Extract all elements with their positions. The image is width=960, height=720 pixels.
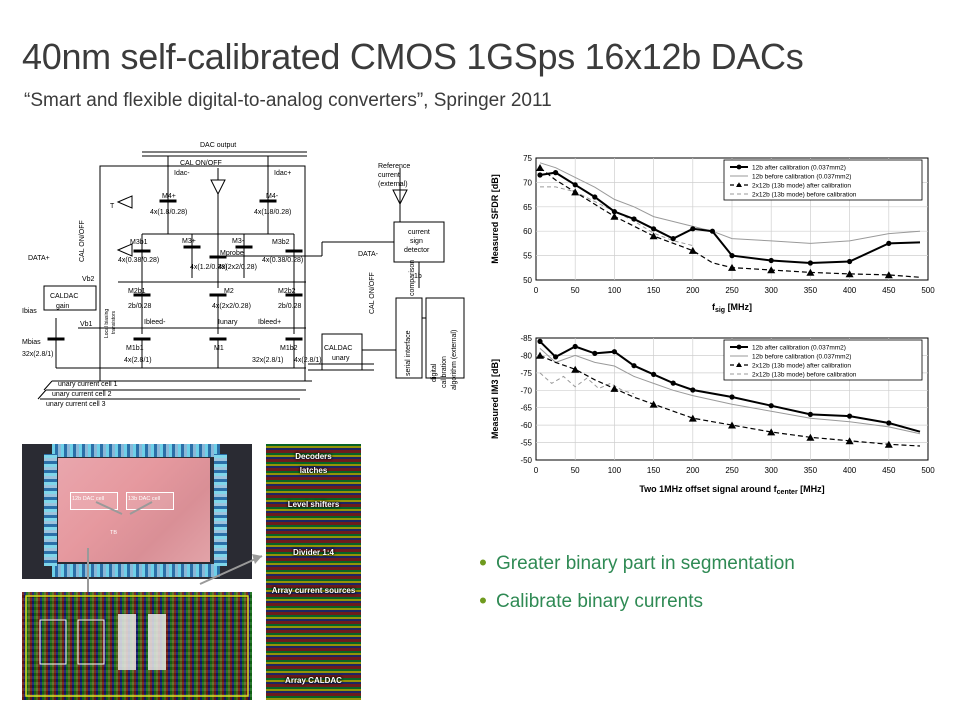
sfdr-legend: 12b after calibration (0.037mm2) 12b bef… bbox=[724, 160, 922, 200]
im3-chart: -85 -80 -75 -70 -65 -60 -55 -50 0 50 100… bbox=[484, 330, 946, 515]
schematic-label: Iunary bbox=[218, 319, 238, 326]
schematic-label: Ibleed+ bbox=[258, 319, 281, 326]
y-tick-label: 65 bbox=[523, 203, 532, 212]
schematic-label: 2b/0.28 bbox=[128, 303, 151, 310]
schematic-label: CAL ON/OFF bbox=[180, 160, 222, 167]
schematic-label: algorithm (external) bbox=[451, 330, 458, 390]
die3-label: Level shifters bbox=[266, 500, 361, 509]
x-tick-label: 350 bbox=[804, 466, 818, 475]
im3-legend: 12b after calibration (0.037mm2) 12b bef… bbox=[724, 340, 922, 380]
schematic-label: serial interface bbox=[405, 330, 412, 376]
bullet-text: Calibrate binary currents bbox=[496, 590, 703, 614]
legend-item: 2x12b (13b mode) after calibration bbox=[752, 183, 851, 190]
y-tick-label: -65 bbox=[520, 404, 532, 413]
schematic-label: Idac- bbox=[174, 170, 190, 177]
schematic-label: M3b2 bbox=[272, 239, 290, 246]
schematic-label: M4+ bbox=[162, 193, 176, 200]
die3-label: Divider 1:4 bbox=[266, 548, 361, 557]
legend-item: 2x12b (13b mode) before calibration bbox=[752, 192, 857, 199]
schematic-label: Mbias bbox=[22, 339, 41, 346]
schematic-label: DATA+ bbox=[28, 255, 50, 262]
x-tick-label: 100 bbox=[608, 466, 622, 475]
die3-label: Decoders bbox=[266, 452, 361, 461]
schematic-label: M1b1 bbox=[126, 345, 144, 352]
schematic-label: M4- bbox=[266, 193, 279, 200]
schematic-label: unary current cell 2 bbox=[52, 391, 112, 398]
y-axis-title: Measured SFDR [dB] bbox=[490, 174, 500, 264]
schematic-label: 4x(0.38/0.28) bbox=[118, 257, 159, 264]
x-tick-label: 0 bbox=[534, 466, 539, 475]
y-tick-label: -85 bbox=[520, 334, 532, 343]
y-tick-label: 70 bbox=[523, 178, 532, 187]
list-item: • Greater binary part in segmentation bbox=[470, 552, 940, 576]
schematic-label: DATA- bbox=[358, 251, 379, 258]
die-photo-top: 12b DAC cell 13b DAC cell TB bbox=[22, 444, 252, 579]
y-tick-label: -80 bbox=[520, 351, 532, 360]
x-tick-label: 50 bbox=[571, 466, 580, 475]
schematic-label: unary bbox=[332, 355, 350, 362]
schematic-label: Reference bbox=[378, 163, 410, 170]
x-tick-label: 250 bbox=[725, 466, 739, 475]
x-tick-label: 200 bbox=[686, 286, 700, 295]
schematic-label: 4x(2.8/1) bbox=[294, 357, 322, 364]
y-tick-label: -60 bbox=[520, 421, 532, 430]
y-axis-title: Measured IM3 [dB] bbox=[490, 359, 500, 439]
y-tick-label: -70 bbox=[520, 386, 532, 395]
schematic-label: Vb2 bbox=[82, 276, 95, 283]
schematic-label: 32x(2.8/1) bbox=[22, 351, 54, 358]
x-tick-label: 300 bbox=[765, 286, 779, 295]
schematic-label: unary current cell 3 bbox=[46, 401, 106, 408]
schematic-label: detector bbox=[404, 247, 430, 254]
schematic-svg: DAC output Idac- Idac+ CAL ON/OFF M4+ 4x… bbox=[22, 138, 472, 433]
schematic-label: current bbox=[378, 172, 400, 179]
y-tick-label: 60 bbox=[523, 227, 532, 236]
x-tick-label: 0 bbox=[534, 286, 539, 295]
legend-item: 2x12b (13b mode) after calibration bbox=[752, 363, 851, 370]
bullet-marker-icon: • bbox=[470, 590, 496, 612]
legend-item: 12b before calibration (0.037mm2) bbox=[752, 174, 851, 181]
schematic-label: 4x(2x2/0.28) bbox=[212, 303, 251, 310]
bullet-list: • Greater binary part in segmentation • … bbox=[470, 552, 940, 628]
x-tick-label: 400 bbox=[843, 466, 857, 475]
legend-item: 2x12b (13b mode) before calibration bbox=[752, 372, 857, 379]
legend-item: 12b before calibration (0.037mm2) bbox=[752, 354, 851, 361]
schematic-label: CAL ON/OFF bbox=[79, 220, 86, 262]
schematic-label: M3+ bbox=[182, 238, 196, 245]
y-tick-label: -75 bbox=[520, 369, 532, 378]
schematic-label: 4x(2.8/1) bbox=[124, 357, 152, 364]
schematic-label: 32x(2.8/1) bbox=[252, 357, 284, 364]
x-tick-label: 350 bbox=[804, 286, 818, 295]
die1-arrows bbox=[22, 444, 252, 579]
schematic-label: M3b1 bbox=[130, 239, 148, 246]
x-tick-label: 100 bbox=[608, 286, 622, 295]
schematic-label: DAC output bbox=[200, 142, 236, 149]
die3-label: Array CALDAC bbox=[266, 676, 361, 685]
schematic-label: current bbox=[408, 229, 430, 236]
y-tick-label: 75 bbox=[523, 154, 532, 163]
schematic-label: comparison bbox=[409, 260, 416, 296]
x-tick-label: 500 bbox=[921, 466, 935, 475]
x-tick-label: 450 bbox=[882, 466, 896, 475]
schematic-label: M2b1 bbox=[128, 288, 146, 295]
x-tick-label: 50 bbox=[571, 286, 580, 295]
bullet-text: Greater binary part in segmentation bbox=[496, 552, 795, 576]
schematic-label: transistors bbox=[111, 310, 117, 334]
x-axis-title: fsig [MHz] bbox=[712, 302, 752, 314]
die-photo-bottom bbox=[22, 592, 252, 700]
x-tick-label: 150 bbox=[647, 286, 661, 295]
schematic-label: 4x(1.8/0.28) bbox=[254, 209, 291, 216]
y-tick-label: 50 bbox=[523, 276, 532, 285]
list-item: • Calibrate binary currents bbox=[470, 590, 940, 614]
page-title: 40nm self-calibrated CMOS 1GSps 16x12b D… bbox=[22, 36, 803, 78]
die2-overlay bbox=[22, 592, 252, 700]
y-tick-label: 55 bbox=[523, 252, 532, 261]
y-tick-label: -55 bbox=[520, 439, 532, 448]
schematic-label: digital bbox=[431, 363, 438, 382]
schematic-label: Vb1 bbox=[80, 321, 93, 328]
schematic-label: 4x(2x2/0.28) bbox=[218, 264, 257, 271]
schematic-label: M3- bbox=[232, 238, 245, 245]
schematic-label: Ibias bbox=[22, 308, 37, 315]
x-tick-label: 450 bbox=[882, 286, 896, 295]
die-photo-group: 12b DAC cell 13b DAC cell TB Decoders la… bbox=[22, 444, 367, 699]
schematic-label: unary current cell 1 bbox=[58, 381, 118, 388]
schematic-label: M2 bbox=[224, 288, 234, 295]
schematic-label: gain bbox=[56, 303, 69, 310]
sfdr-chart: 75 70 65 60 55 50 0 50 100 150 200 250 3… bbox=[484, 150, 946, 335]
die3-layout-texture bbox=[266, 444, 361, 700]
schematic-label: M1 bbox=[214, 345, 224, 352]
die-photo-zoom: Decoders latches Level shifters Divider … bbox=[266, 444, 361, 700]
die3-label: Array current sources bbox=[266, 586, 361, 595]
y-tick-label: -50 bbox=[520, 456, 532, 465]
x-tick-label: 500 bbox=[921, 286, 935, 295]
schematic-label: 2b/0.28 bbox=[278, 303, 301, 310]
x-axis-title: Two 1MHz offset signal around fcenter [M… bbox=[639, 484, 824, 496]
schematic-label: M1b2 bbox=[280, 345, 298, 352]
schematic-label: Local biasing bbox=[104, 309, 110, 338]
schematic-label: M2b2 bbox=[278, 288, 296, 295]
x-tick-label: 400 bbox=[843, 286, 857, 295]
schematic-label: CALDAC bbox=[50, 293, 78, 300]
schematic-label: calibration bbox=[441, 356, 448, 388]
dac-schematic-figure: DAC output Idac- Idac+ CAL ON/OFF M4+ 4x… bbox=[22, 138, 472, 433]
schematic-label: Mprobe bbox=[220, 250, 244, 257]
legend-item: 12b after calibration (0.037mm2) bbox=[752, 345, 846, 352]
schematic-label: 4x(0.38/0.28) bbox=[262, 257, 303, 264]
x-tick-label: 200 bbox=[686, 466, 700, 475]
schematic-label: Ibleed- bbox=[144, 319, 166, 326]
die3-label: latches bbox=[266, 466, 361, 475]
im3-chart-svg: -85 -80 -75 -70 -65 -60 -55 -50 0 50 100… bbox=[484, 330, 946, 515]
legend-item: 12b after calibration (0.037mm2) bbox=[752, 165, 846, 172]
schematic-label: T bbox=[110, 203, 115, 210]
schematic-label: (external) bbox=[378, 181, 408, 188]
schematic-label: sign bbox=[410, 238, 423, 245]
schematic-label: 4x(1.8/0.28) bbox=[150, 209, 187, 216]
bullet-marker-icon: • bbox=[470, 552, 496, 574]
schematic-label: CALDAC bbox=[324, 345, 352, 352]
x-tick-label: 150 bbox=[647, 466, 661, 475]
schematic-label: Idac+ bbox=[274, 170, 291, 177]
page-subtitle: “Smart and flexible digital-to-analog co… bbox=[24, 90, 552, 112]
x-tick-label: 300 bbox=[765, 466, 779, 475]
sfdr-chart-svg: 75 70 65 60 55 50 0 50 100 150 200 250 3… bbox=[484, 150, 946, 335]
x-tick-label: 250 bbox=[725, 286, 739, 295]
schematic-label: CAL ON/OFF bbox=[369, 272, 376, 314]
